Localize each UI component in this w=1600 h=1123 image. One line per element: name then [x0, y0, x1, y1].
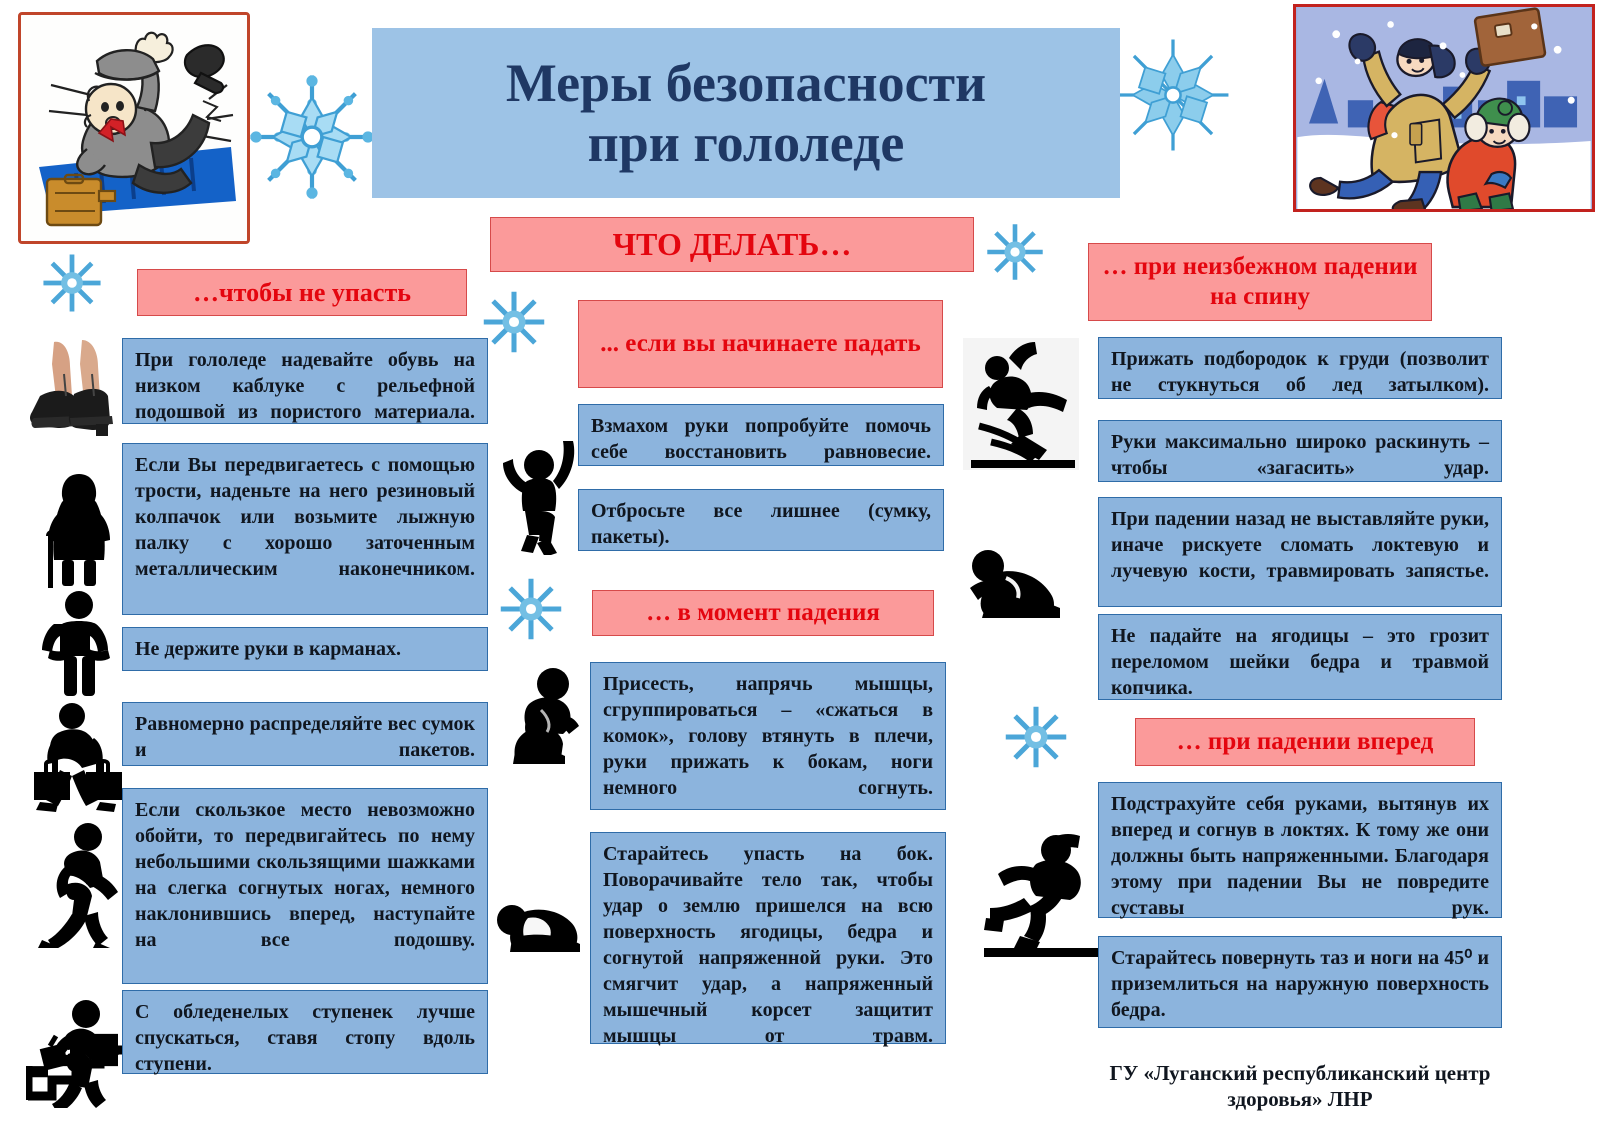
heading-what-to-do: ЧТО ДЕЛАТЬ…	[490, 217, 974, 272]
middle-item-3: Присесть, напрячь мышцы, сгруппироваться…	[590, 662, 946, 810]
person-lying-on-side-icon	[492, 890, 586, 960]
right-item-3: При падении назад не выставляйте руки, и…	[1098, 497, 1502, 607]
black-ankle-boots-photo	[24, 338, 126, 438]
snowflake-decoration-right-title	[1110, 30, 1236, 160]
heading-inevitable-back-fall: … при неизбежном падении на спину	[1088, 243, 1432, 321]
footer-line1: ГУ «Луганский республиканский центр	[1050, 1060, 1550, 1086]
snowflake-decoration-title	[242, 62, 382, 212]
left-item-2: Если Вы передвигаетесь с помощью трости,…	[122, 443, 488, 615]
people-slipping-illustration-svg	[1296, 7, 1592, 209]
person-falling-forward-icon	[980, 828, 1110, 960]
elderly-woman-with-cane-icon	[36, 470, 122, 590]
top-left-illustration	[18, 12, 250, 244]
snowflake-decoration-mid-upper	[478, 285, 550, 359]
left-item-6: С обледенелых ступенек лучше спускаться,…	[122, 990, 488, 1074]
heading-forward-fall: … при падении вперед	[1135, 718, 1475, 766]
heading-not-to-fall: …чтобы не упасть	[137, 269, 467, 316]
poster-root: Меры безопасности при гололеде ЧТО ДЕЛАТ…	[0, 0, 1600, 1123]
right-item-6: Старайтесь повернуть таз и ноги на 45⁰ и…	[1098, 936, 1502, 1028]
footer-line2: здоровья» ЛНР	[1050, 1086, 1550, 1112]
top-right-illustration	[1293, 4, 1595, 212]
left-item-3: Не держите руки в карманах.	[122, 627, 488, 671]
person-arms-raised-balancing-icon	[497, 435, 581, 555]
person-walking-leaning-forward-icon	[30, 822, 120, 948]
snowflake-decoration-center-top	[982, 218, 1048, 286]
person-lying-on-back-icon	[962, 548, 1066, 626]
left-item-1: При гололеде надевайте обувь на низком к…	[122, 338, 488, 424]
page-title-line2: при гололеде	[506, 113, 986, 173]
right-item-5: Подстрахуйте себя руками, вытянув их впе…	[1098, 782, 1502, 918]
snowflake-decoration-mid-lower	[495, 572, 567, 646]
slipping-hazard-warning-icon	[963, 338, 1079, 470]
page-title-line1: Меры безопасности	[506, 53, 986, 113]
heading-if-starting-to-fall: ... если вы начинаете падать	[578, 300, 943, 388]
right-item-1: Прижать подбородок к груди (позволит не …	[1098, 337, 1502, 399]
middle-item-1: Взмахом руки попробуйте помочь себе восс…	[578, 404, 944, 466]
left-item-4: Равномерно распределяйте вес сумок и пак…	[122, 702, 488, 766]
footer-organization: ГУ «Луганский республиканский центр здор…	[1050, 1060, 1550, 1113]
person-crouching-tucked-icon	[495, 660, 589, 766]
heading-moment-of-fall: … в момент падения	[592, 590, 934, 636]
right-item-4: Не падайте на ягодицы – это грозит перел…	[1098, 614, 1502, 700]
middle-item-4: Старайтесь упасть на бок. Поворачивайте …	[590, 832, 946, 1044]
page-title: Меры безопасности при гололеде	[372, 28, 1120, 198]
left-item-5: Если скользкое место невозможно обойти, …	[122, 788, 488, 984]
snowflake-decoration-right-lower	[1000, 700, 1072, 774]
right-item-2: Руки максимально широко раскинуть – чтоб…	[1098, 420, 1502, 482]
middle-item-2: Отбросьте все лишнее (сумку, пакеты).	[578, 489, 944, 551]
person-carrying-two-bags-icon	[26, 702, 130, 814]
person-hands-on-hips-icon	[40, 590, 118, 698]
snowflake-decoration-left	[38, 248, 106, 318]
man-slipping-cartoon-svg	[21, 15, 250, 244]
